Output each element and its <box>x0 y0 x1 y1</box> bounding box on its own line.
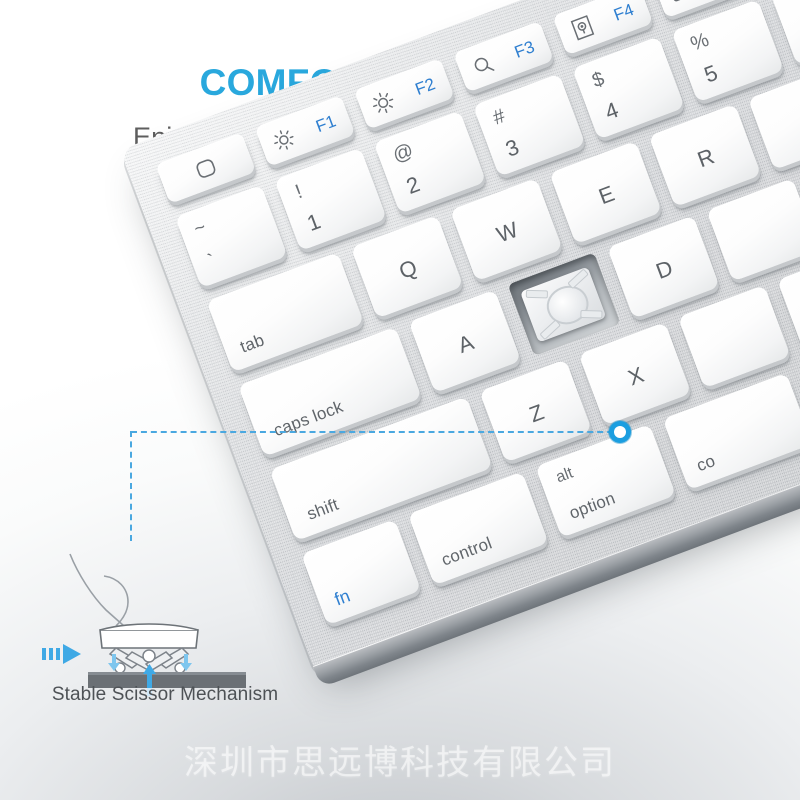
key-q-label: Q <box>361 243 455 296</box>
base-plate-highlight <box>88 672 246 675</box>
key-2-top: @ <box>390 140 416 166</box>
key-a-label: A <box>419 318 513 371</box>
dictation-icon <box>568 13 597 42</box>
key-x-label: X <box>589 350 683 403</box>
scissor-arm <box>526 290 548 299</box>
scissor-pivot <box>143 650 155 662</box>
key-f1-label: F1 <box>314 112 339 135</box>
scissor-diagram-svg <box>36 548 298 698</box>
scissor-mechanism-diagram <box>36 548 298 698</box>
key-command-label: co <box>694 452 717 474</box>
key-backtick-bottom: ` <box>206 251 219 271</box>
brightness-icon <box>369 89 397 117</box>
key-d-label: D <box>618 244 712 297</box>
key-4-bottom: 4 <box>602 99 621 124</box>
force-arrow-left-icon <box>42 644 81 664</box>
key-alt-label: alt <box>554 465 575 486</box>
keycap-body <box>100 630 198 648</box>
key-f4-label: F4 <box>612 1 637 24</box>
key-3-top: # <box>490 106 507 129</box>
key-tab-label: tab <box>238 331 267 355</box>
key-1-bottom: 1 <box>304 210 323 235</box>
key-control-label: control <box>439 534 494 568</box>
diagram-caption: Stable Scissor Mechanism <box>20 684 310 706</box>
key-fn-label: fn <box>332 586 352 608</box>
callout-line-horizontal <box>131 431 623 433</box>
key-f3-label: F3 <box>512 38 537 61</box>
key-5-top: % <box>688 30 712 55</box>
key-1-top: ! <box>293 182 305 203</box>
callout-line-vertical <box>130 431 132 541</box>
callout-marker-dot <box>609 421 631 443</box>
key-2-bottom: 2 <box>404 173 423 198</box>
key-4-top: $ <box>590 69 607 92</box>
brightness-icon <box>270 126 298 154</box>
search-icon <box>469 51 497 79</box>
key-3-bottom: 3 <box>503 136 522 161</box>
esc-rounded-square-icon <box>191 155 221 184</box>
key-backtick-top: ~ <box>192 218 209 240</box>
key-w-label: W <box>461 206 555 259</box>
key-e-label: E <box>560 169 654 222</box>
key-r-label: R <box>659 132 753 185</box>
product-marketing-image: COMFORTABLE KEYS Enjoy smooth and precis… <box>0 0 800 800</box>
finger-outline-icon <box>70 554 124 626</box>
key-shift-label: shift <box>305 496 341 523</box>
key-option-label: option <box>567 489 617 522</box>
key-5-bottom: 5 <box>701 62 720 87</box>
keyboard-backlight-icon <box>667 0 697 5</box>
keycap-top-curve <box>100 624 198 630</box>
key-f2-label: F2 <box>413 75 438 98</box>
scissor-arm <box>580 310 602 319</box>
